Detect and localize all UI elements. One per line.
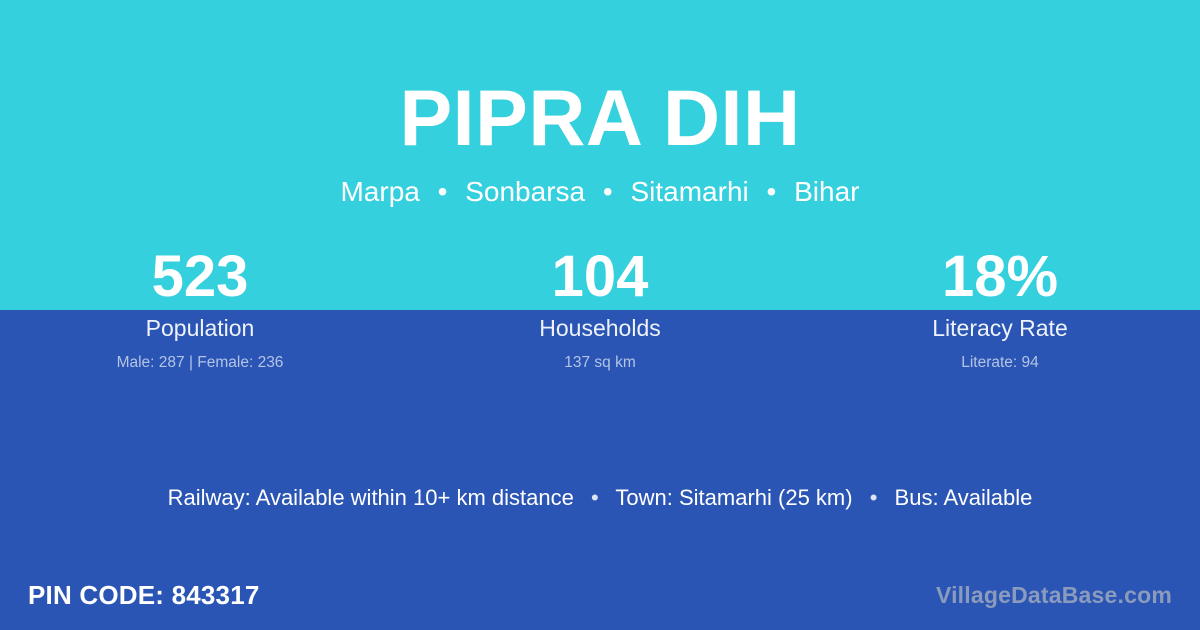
breadcrumb-item-subdistrict: Sonbarsa (465, 176, 585, 207)
infrastructure-line: Railway: Available within 10+ km distanc… (0, 487, 1200, 509)
infrastructure-separator-icon: • (580, 487, 610, 509)
site-brand: VillageDataBase.com (936, 584, 1172, 607)
pin-code: PIN CODE: 843317 (28, 582, 260, 608)
stat-subtext: Literate: 94 (800, 355, 1200, 371)
stat-label: Households (400, 317, 800, 340)
stat-value: 18% (800, 248, 1200, 308)
village-info-card: PIPRA DIH Marpa • Sonbarsa • Sitamarhi •… (0, 0, 1200, 630)
infrastructure-separator-icon: • (859, 487, 889, 509)
card-footer: PIN CODE: 843317 VillageDataBase.com (0, 560, 1200, 630)
stat-households: 104 Households 137 sq km (400, 248, 800, 371)
breadcrumb-separator-icon: • (593, 178, 623, 206)
infrastructure-railway: Railway: Available within 10+ km distanc… (168, 485, 574, 510)
stat-value: 104 (400, 248, 800, 308)
breadcrumb: Marpa • Sonbarsa • Sitamarhi • Bihar (0, 157, 1200, 206)
page-title: PIPRA DIH (0, 0, 1200, 157)
breadcrumb-separator-icon: • (428, 178, 458, 206)
stat-label: Population (0, 317, 400, 340)
breadcrumb-item-state: Bihar (794, 176, 859, 207)
breadcrumb-item-district: Sitamarhi (630, 176, 748, 207)
stat-subtext: Male: 287 | Female: 236 (0, 355, 400, 371)
stats-row: 523 Population Male: 287 | Female: 236 1… (0, 248, 1200, 371)
stat-value: 523 (0, 248, 400, 308)
infrastructure-town: Town: Sitamarhi (25 km) (615, 485, 852, 510)
stat-literacy-rate: 18% Literacy Rate Literate: 94 (800, 248, 1200, 371)
stat-label: Literacy Rate (800, 317, 1200, 340)
breadcrumb-item-block: Marpa (340, 176, 419, 207)
infrastructure-bus: Bus: Available (895, 485, 1033, 510)
breadcrumb-separator-icon: • (757, 178, 787, 206)
stat-subtext: 137 sq km (400, 355, 800, 371)
stat-population: 523 Population Male: 287 | Female: 236 (0, 248, 400, 371)
card-header: PIPRA DIH Marpa • Sonbarsa • Sitamarhi •… (0, 0, 1200, 206)
